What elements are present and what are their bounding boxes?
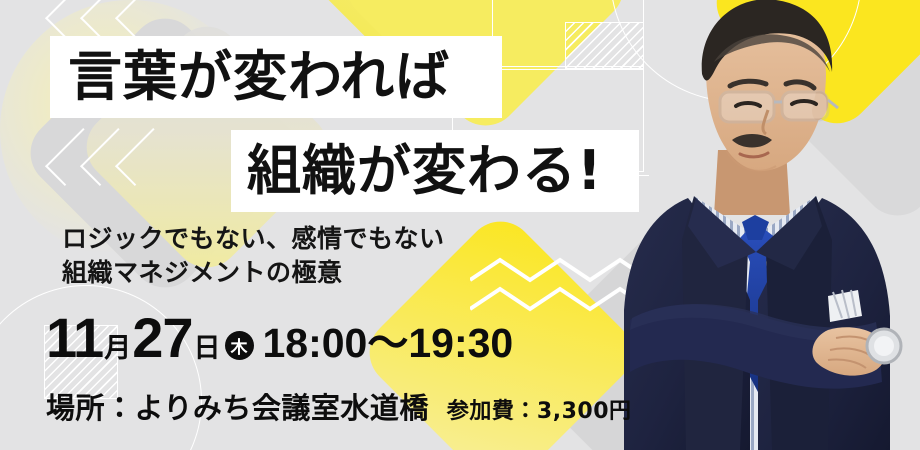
subtitle-line-1: ロジックでもない、感情でもない xyxy=(62,222,582,256)
event-day-unit: 日 xyxy=(194,335,221,362)
headline-line-2: 組織が変わる! xyxy=(231,144,603,198)
headline-band-1: 言葉が変われば xyxy=(50,36,502,118)
event-venue-row: 場所：よりみち会議室水道橋 参加費：3,300円 xyxy=(46,385,632,427)
event-month: 11 xyxy=(46,310,103,366)
weekday-badge: 木 xyxy=(225,331,254,360)
speaker-photo xyxy=(590,0,920,450)
event-day: 27 xyxy=(132,310,192,366)
event-venue: 場所：よりみち会議室水道橋 xyxy=(46,385,429,427)
subtitle: ロジックでもない、感情でもない 組織マネジメントの極意 xyxy=(62,222,582,289)
event-time: 18:00〜19:30 xyxy=(263,323,514,364)
event-fee: 参加費：3,300円 xyxy=(447,393,632,425)
headline-band-2: 組織が変わる! xyxy=(231,130,639,212)
event-datetime: 11 月 27 日 木 18:00〜19:30 xyxy=(46,310,513,372)
subtitle-line-2: 組織マネジメントの極意 xyxy=(62,256,582,290)
headline-line-1: 言葉が変われば xyxy=(50,50,450,104)
event-month-unit: 月 xyxy=(104,335,131,362)
seminar-banner: 言葉が変われば 組織が変わる! ロジックでもない、感情でもない 組織マネジメント… xyxy=(0,0,920,450)
